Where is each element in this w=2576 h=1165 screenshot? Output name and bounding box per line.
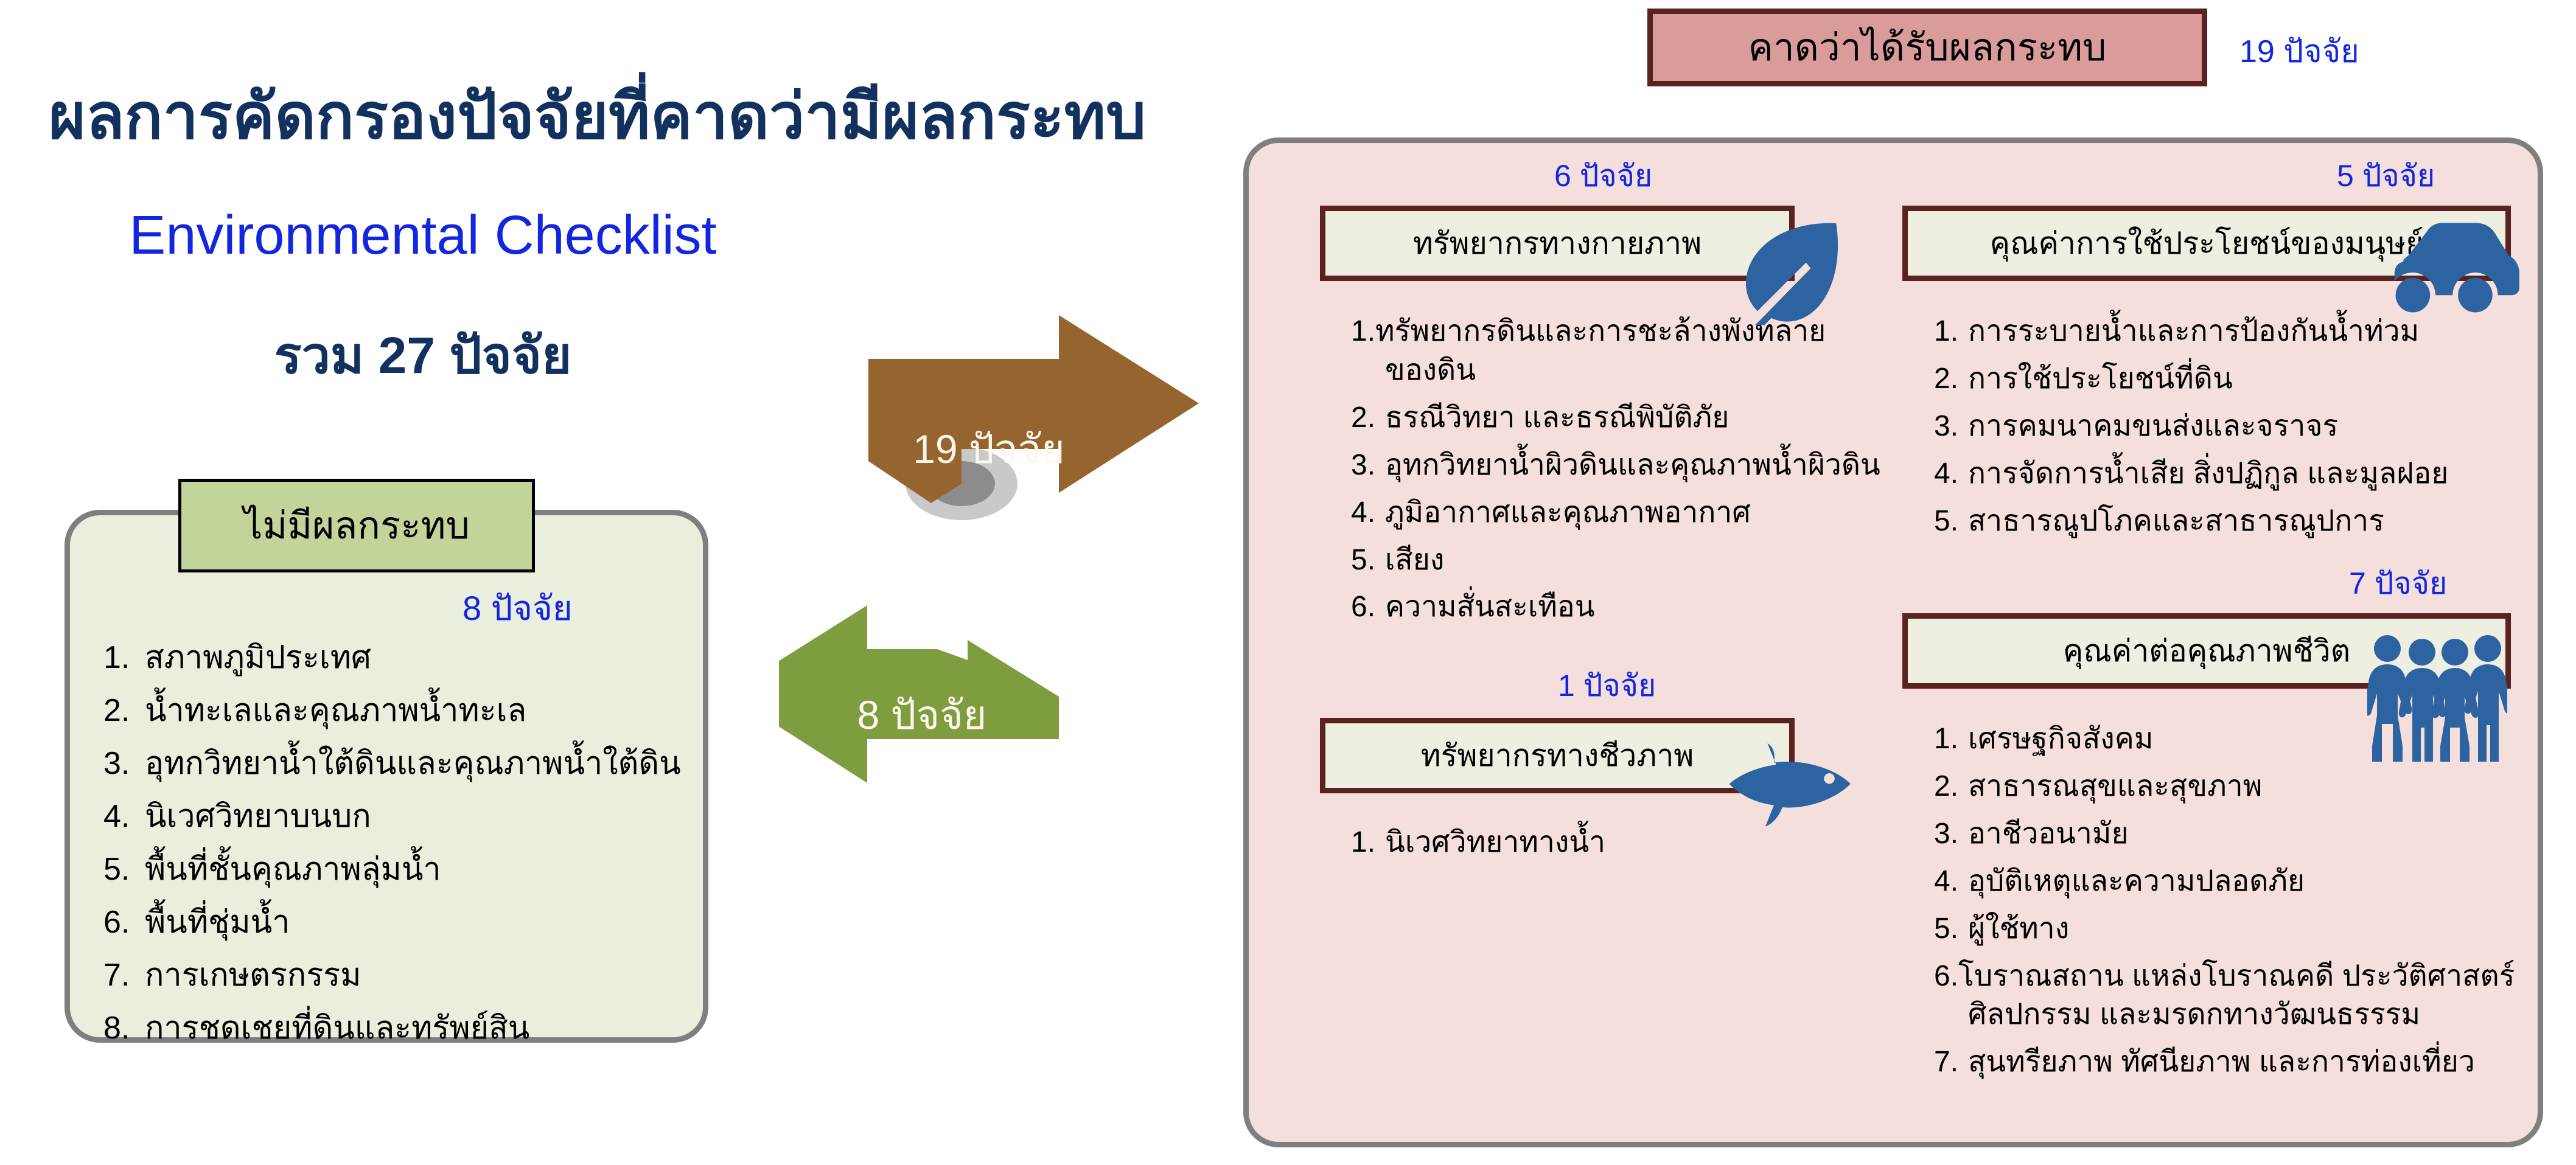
page-subtitle: Environmental Checklist bbox=[49, 207, 797, 265]
human-use-item-label: สาธารณูปโภคและสาธารณูปการ bbox=[1968, 506, 2384, 537]
quality-of-life-item-number: 7. bbox=[1934, 1047, 1968, 1077]
physical-item: 5.เสียง bbox=[1351, 545, 1911, 576]
quality-of-life-item: 3.อาชีวอนามัย bbox=[1934, 819, 2561, 849]
no-impact-item: 5.พื้นที่ชั้นคุณภาพลุ่มน้ำ bbox=[103, 854, 688, 886]
physical-item: 4.ภูมิอากาศและคุณภาพอากาศ bbox=[1351, 498, 1911, 528]
physical-item: 2.ธรณีวิทยา และธรณีพิบัติภัย bbox=[1351, 403, 1911, 433]
physical-item-number: 4. bbox=[1351, 498, 1385, 528]
human-use-item: 4.การจัดการน้ำเสีย สิ่งปฏิกูล และมูลฝอย bbox=[1934, 459, 2555, 489]
people-icon bbox=[2367, 627, 2507, 767]
physical-item: 3.อุทกวิทยาน้ำผิวดินและคุณภาพน้ำผิวดิน bbox=[1351, 450, 1911, 481]
no-impact-item: 4.นิเวศวิทยาบนบก bbox=[103, 801, 688, 833]
car-icon bbox=[2379, 212, 2519, 315]
biological-item-number: 1. bbox=[1351, 827, 1385, 858]
quality-of-life-item: 5.ผู้ใช้ทาง bbox=[1934, 914, 2561, 944]
physical-item-label: ภูมิอากาศและคุณภาพอากาศ bbox=[1385, 498, 1751, 528]
no-impact-item-number: 2. bbox=[103, 695, 145, 727]
no-impact-item-label: สภาพภูมิประเทศ bbox=[145, 642, 371, 674]
no-impact-item-number: 6. bbox=[103, 906, 145, 939]
quality-of-life-item: 6.โบราณสถาน แหล่งโบราณคดี ประวัติศาสตร์ศ… bbox=[1934, 961, 2561, 1031]
physical-item-label: อุทกวิทยาน้ำผิวดินและคุณภาพน้ำผิวดิน bbox=[1385, 450, 1880, 481]
fish-icon bbox=[1727, 737, 1855, 835]
human-use-item-label: การคมนาคมขนส่งและจราจร bbox=[1968, 411, 2338, 442]
human-use-item: 1.การระบายน้ำและการป้องกันน้ำท่วม bbox=[1934, 316, 2555, 347]
physical-item-label: ความสั่นสะเทือน bbox=[1385, 592, 1595, 622]
quality-of-life-item: 2.สาธารณสุขและสุขภาพ bbox=[1934, 771, 2561, 802]
group-count-biological: 1 ปัจจัย bbox=[1558, 662, 1656, 710]
group-header-physical: ทรัพยากรทางกายภาพ bbox=[1320, 206, 1795, 281]
physical-item-number: 3. bbox=[1351, 450, 1385, 481]
no-impact-item-label: น้ำทะเลและคุณภาพน้ำทะเล bbox=[145, 695, 526, 727]
green-arrow-label: 8 ปัจจัย bbox=[822, 683, 1022, 747]
group-count-quality-of-life: 7 ปัจจัย bbox=[2349, 560, 2447, 608]
human-use-item-label: การระบายน้ำและการป้องกันน้ำท่วม bbox=[1968, 316, 2419, 347]
no-impact-item-number: 1. bbox=[103, 642, 145, 674]
total-factors-label: รวม 27 ปัจจัย bbox=[49, 329, 797, 382]
no-impact-header: ไม่มีผลกระทบ bbox=[178, 479, 535, 572]
no-impact-item: 3.อุทกวิทยาน้ำใต้ดินและคุณภาพน้ำใต้ดิน bbox=[103, 748, 688, 780]
quality-of-life-item-number: 5. bbox=[1934, 914, 1968, 944]
no-impact-item: 8.การชดเชยที่ดินและทรัพย์สิน bbox=[103, 1012, 688, 1045]
human-use-item-number: 5. bbox=[1934, 506, 1968, 537]
quality-of-life-item: 4.อุบัติเหตุและความปลอดภัย bbox=[1934, 866, 2561, 897]
no-impact-item: 2.น้ำทะเลและคุณภาพน้ำทะเล bbox=[103, 695, 688, 727]
group-count-human-use: 5 ปัจจัย bbox=[2337, 152, 2435, 200]
physical-item-label: เสียง bbox=[1385, 545, 1444, 576]
physical-item-number: 5. bbox=[1351, 545, 1385, 576]
no-impact-item: 7.การเกษตรกรรม bbox=[103, 959, 688, 992]
no-impact-item-label: การเกษตรกรรม bbox=[145, 959, 361, 992]
no-impact-list: 1.สภาพภูมิประเทศ2.น้ำทะเลและคุณภาพน้ำทะเ… bbox=[103, 642, 688, 1065]
brown-arrow-label: 19 ปัจจัย bbox=[888, 417, 1089, 481]
no-impact-item-number: 8. bbox=[103, 1012, 145, 1045]
no-impact-item-number: 4. bbox=[103, 801, 145, 833]
human-use-item-number: 4. bbox=[1934, 459, 1968, 489]
no-impact-item-label: พื้นที่ชั้นคุณภาพลุ่มน้ำ bbox=[145, 854, 441, 886]
no-impact-item-label: นิเวศวิทยาบนบก bbox=[145, 801, 371, 833]
quality-of-life-item-number: 6. bbox=[1934, 960, 1958, 992]
group-count-physical: 6 ปัจจัย bbox=[1554, 152, 1652, 200]
human-use-item-label: การจัดการน้ำเสีย สิ่งปฏิกูล และมูลฝอย bbox=[1968, 459, 2448, 489]
no-impact-item-label: พื้นที่ชุ่มน้ำ bbox=[145, 906, 290, 939]
group-list-human-use: 1.การระบายน้ำและการป้องกันน้ำท่วม2.การใช… bbox=[1934, 316, 2555, 554]
physical-item-number: 2. bbox=[1351, 403, 1385, 433]
quality-of-life-item: 7.สุนทรียภาพ ทัศนียภาพ และการท่องเที่ยว bbox=[1934, 1047, 2561, 1077]
physical-item-label-cont: ของดิน bbox=[1351, 355, 1911, 386]
no-impact-item-label: การชดเชยที่ดินและทรัพย์สิน bbox=[145, 1012, 529, 1045]
quality-of-life-item-number: 2. bbox=[1934, 771, 1968, 802]
human-use-item-number: 3. bbox=[1934, 411, 1968, 442]
no-impact-item-number: 5. bbox=[103, 854, 145, 886]
bidirectional-arrows bbox=[779, 304, 1229, 986]
biological-item-label: นิเวศวิทยาทางน้ำ bbox=[1385, 827, 1605, 858]
no-impact-item: 6.พื้นที่ชุ่มน้ำ bbox=[103, 906, 688, 939]
slide-canvas: ผลการคัดกรองปัจจัยที่คาดว่ามีผลกระทบ Env… bbox=[0, 0, 2576, 1165]
quality-of-life-item-label: โบราณสถาน แหล่งโบราณคดี ประวัติศาสตร์ bbox=[1958, 960, 2515, 992]
quality-of-life-item-number: 4. bbox=[1934, 866, 1968, 897]
group-list-quality-of-life: 1.เศรษฐกิจสังคม2.สาธารณสุขและสุขภาพ3.อาช… bbox=[1934, 724, 2561, 1094]
quality-of-life-item-label-cont: ศิลปกรรม และมรดกทางวัฒนธรรรม bbox=[1934, 1000, 2561, 1030]
physical-item-number: 1. bbox=[1351, 315, 1375, 347]
quality-of-life-item-label: อุบัติเหตุและความปลอดภัย bbox=[1968, 866, 2305, 897]
leaf-icon bbox=[1734, 212, 1850, 327]
quality-of-life-item-label: ผู้ใช้ทาง bbox=[1968, 914, 2069, 944]
physical-item-number: 6. bbox=[1351, 592, 1385, 622]
human-use-item: 2.การใช้ประโยชน์ที่ดิน bbox=[1934, 364, 2555, 394]
impact-title-count-badge: 19 ปัจจัย bbox=[2239, 26, 2359, 76]
quality-of-life-item-label: สาธารณสุขและสุขภาพ bbox=[1968, 771, 2262, 802]
physical-item-label: ธรณีวิทยา และธรณีพิบัติภัย bbox=[1385, 403, 1729, 433]
group-header-biological: ทรัพยากรทางชีวภาพ bbox=[1320, 718, 1795, 793]
human-use-item-number: 2. bbox=[1934, 364, 1968, 394]
no-impact-item: 1.สภาพภูมิประเทศ bbox=[103, 642, 688, 674]
impact-title-box: คาดว่าได้รับผลกระทบ bbox=[1647, 9, 2207, 86]
human-use-item: 5.สาธารณูปโภคและสาธารณูปการ bbox=[1934, 506, 2555, 537]
group-list-physical: 1.ทรัพยากรดินและการชะล้างพังทลายของดิน2.… bbox=[1351, 316, 1911, 639]
quality-of-life-item-number: 3. bbox=[1934, 819, 1968, 849]
quality-of-life-item-label: อาชีวอนามัย bbox=[1968, 819, 2129, 849]
no-impact-item-number: 3. bbox=[103, 748, 145, 780]
physical-item: 6.ความสั่นสะเทือน bbox=[1351, 592, 1911, 622]
no-impact-count-badge: 8 ปัจจัย bbox=[462, 581, 573, 635]
human-use-item-label: การใช้ประโยชน์ที่ดิน bbox=[1968, 364, 2233, 394]
human-use-item-number: 1. bbox=[1934, 316, 1968, 347]
quality-of-life-item-label: เศรษฐกิจสังคม bbox=[1968, 724, 2153, 754]
quality-of-life-item-label: สุนทรียภาพ ทัศนียภาพ และการท่องเที่ยว bbox=[1968, 1047, 2475, 1077]
quality-of-life-item-number: 1. bbox=[1934, 724, 1968, 754]
no-impact-item-number: 7. bbox=[103, 959, 145, 992]
page-title: ผลการคัดกรองปัจจัยที่คาดว่ามีผลกระทบ bbox=[49, 84, 797, 150]
human-use-item: 3.การคมนาคมขนส่งและจราจร bbox=[1934, 411, 2555, 442]
no-impact-item-label: อุทกวิทยาน้ำใต้ดินและคุณภาพน้ำใต้ดิน bbox=[145, 748, 681, 780]
